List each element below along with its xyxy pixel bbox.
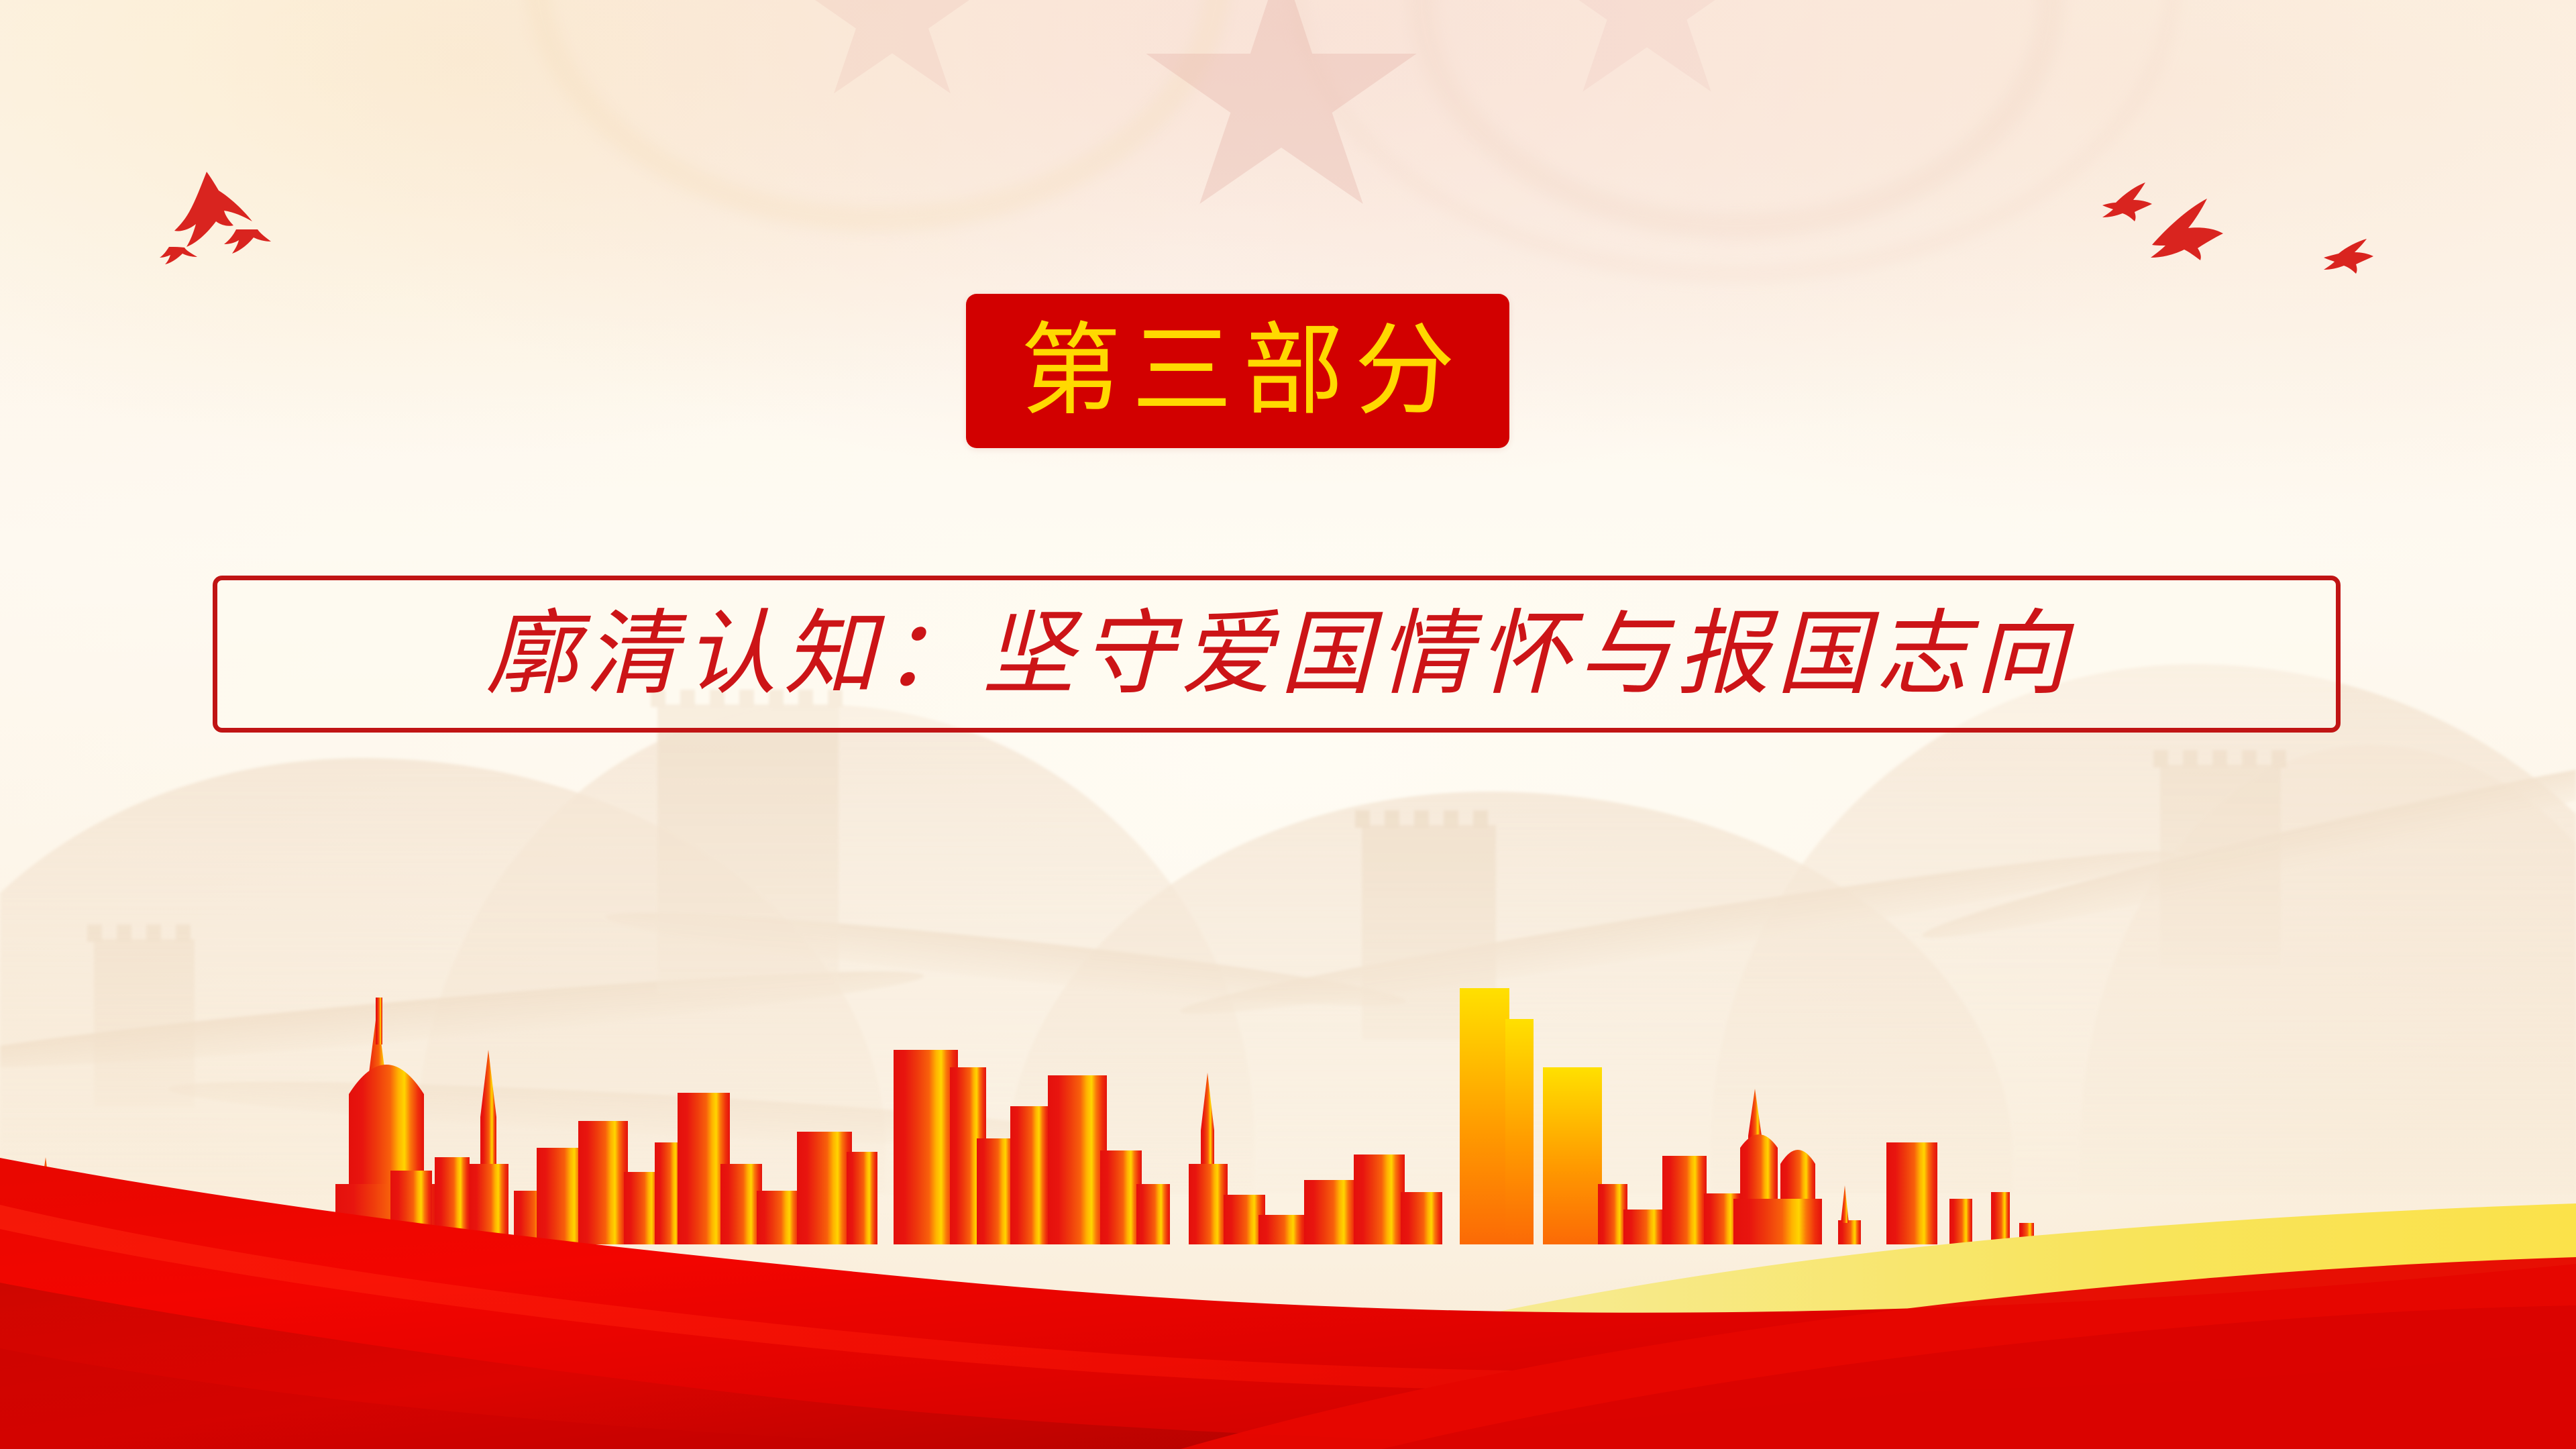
section-subtitle-box[interactable]: 廓清认知：坚守爱国情怀与报国志向 bbox=[213, 576, 2341, 733]
dove-flock-icon bbox=[154, 168, 282, 268]
section-title-label: 第三部分 bbox=[1010, 321, 1466, 421]
section-subtitle-label: 廓清认知：坚守爱国情怀与报国志向 bbox=[479, 608, 2074, 700]
red-silk-ribbon bbox=[0, 1033, 2576, 1449]
section-title-banner[interactable]: 第三部分 bbox=[966, 294, 1509, 448]
slide-canvas: 第三部分 廓清认知：坚守爱国情怀与报国志向 bbox=[0, 0, 2576, 1449]
seagull-flock-icon bbox=[2073, 161, 2422, 288]
